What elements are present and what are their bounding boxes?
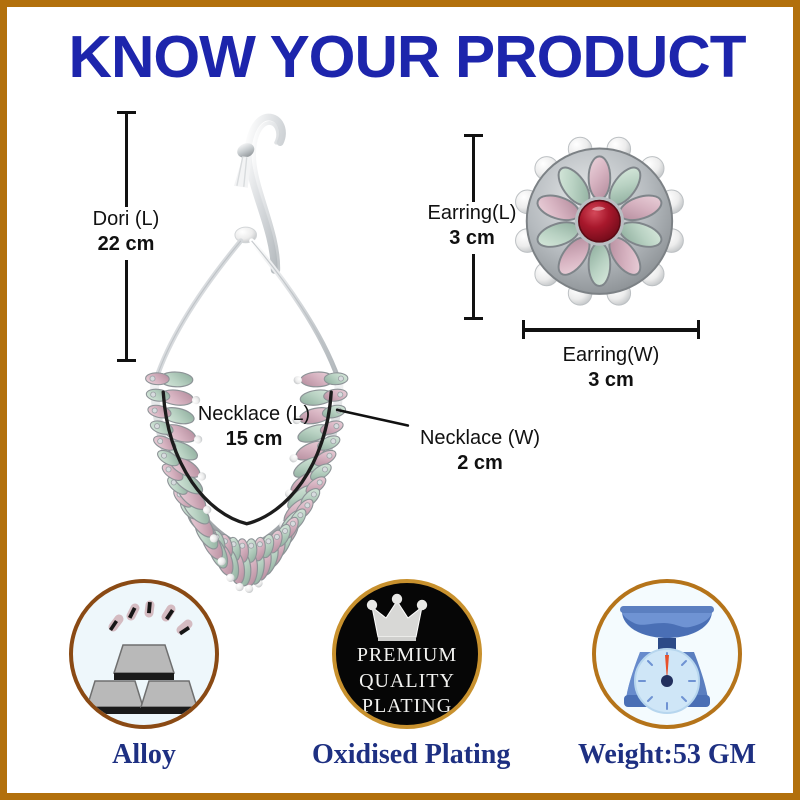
necklace-length-value: 15 cm: [175, 427, 333, 452]
plating-seal-line-2: QUALITY: [336, 669, 478, 695]
alloy-caption: Alloy: [49, 739, 239, 771]
kitchen-scale-icon: [596, 583, 738, 725]
necklace-width-pointer: [337, 410, 408, 426]
plating-seal-line-3: PLATING: [336, 694, 478, 720]
plating-seal-text: PREMIUM QUALITY PLATING: [336, 643, 478, 720]
weight-caption: Weight:53 GM: [572, 739, 762, 771]
plating-caption: Oxidised Plating: [312, 739, 502, 771]
metal-ingots-icon: [73, 583, 215, 725]
badge-alloy: Alloy: [49, 579, 239, 771]
necklace-width-value: 2 cm: [405, 451, 555, 476]
plating-seal-line-1: PREMIUM: [336, 643, 478, 669]
badge-weight: Weight:53 GM: [572, 579, 762, 771]
plating-seal-circle: PREMIUM QUALITY PLATING: [332, 579, 482, 729]
dimension-necklace-width: Necklace (W) 2 cm: [405, 426, 555, 476]
infographic-page: KNOW YOUR PRODUCT: [0, 0, 800, 800]
dimension-necklace-length: Necklace (L) 15 cm: [175, 402, 333, 452]
alloy-icon-circle: [69, 579, 219, 729]
weight-icon-circle: [592, 579, 742, 729]
necklace-length-label: Necklace (L): [175, 402, 333, 427]
badge-plating: PREMIUM QUALITY PLATING Oxidised Plating: [312, 579, 502, 771]
necklace-width-label: Necklace (W): [405, 426, 555, 451]
crown-icon: [336, 591, 478, 651]
